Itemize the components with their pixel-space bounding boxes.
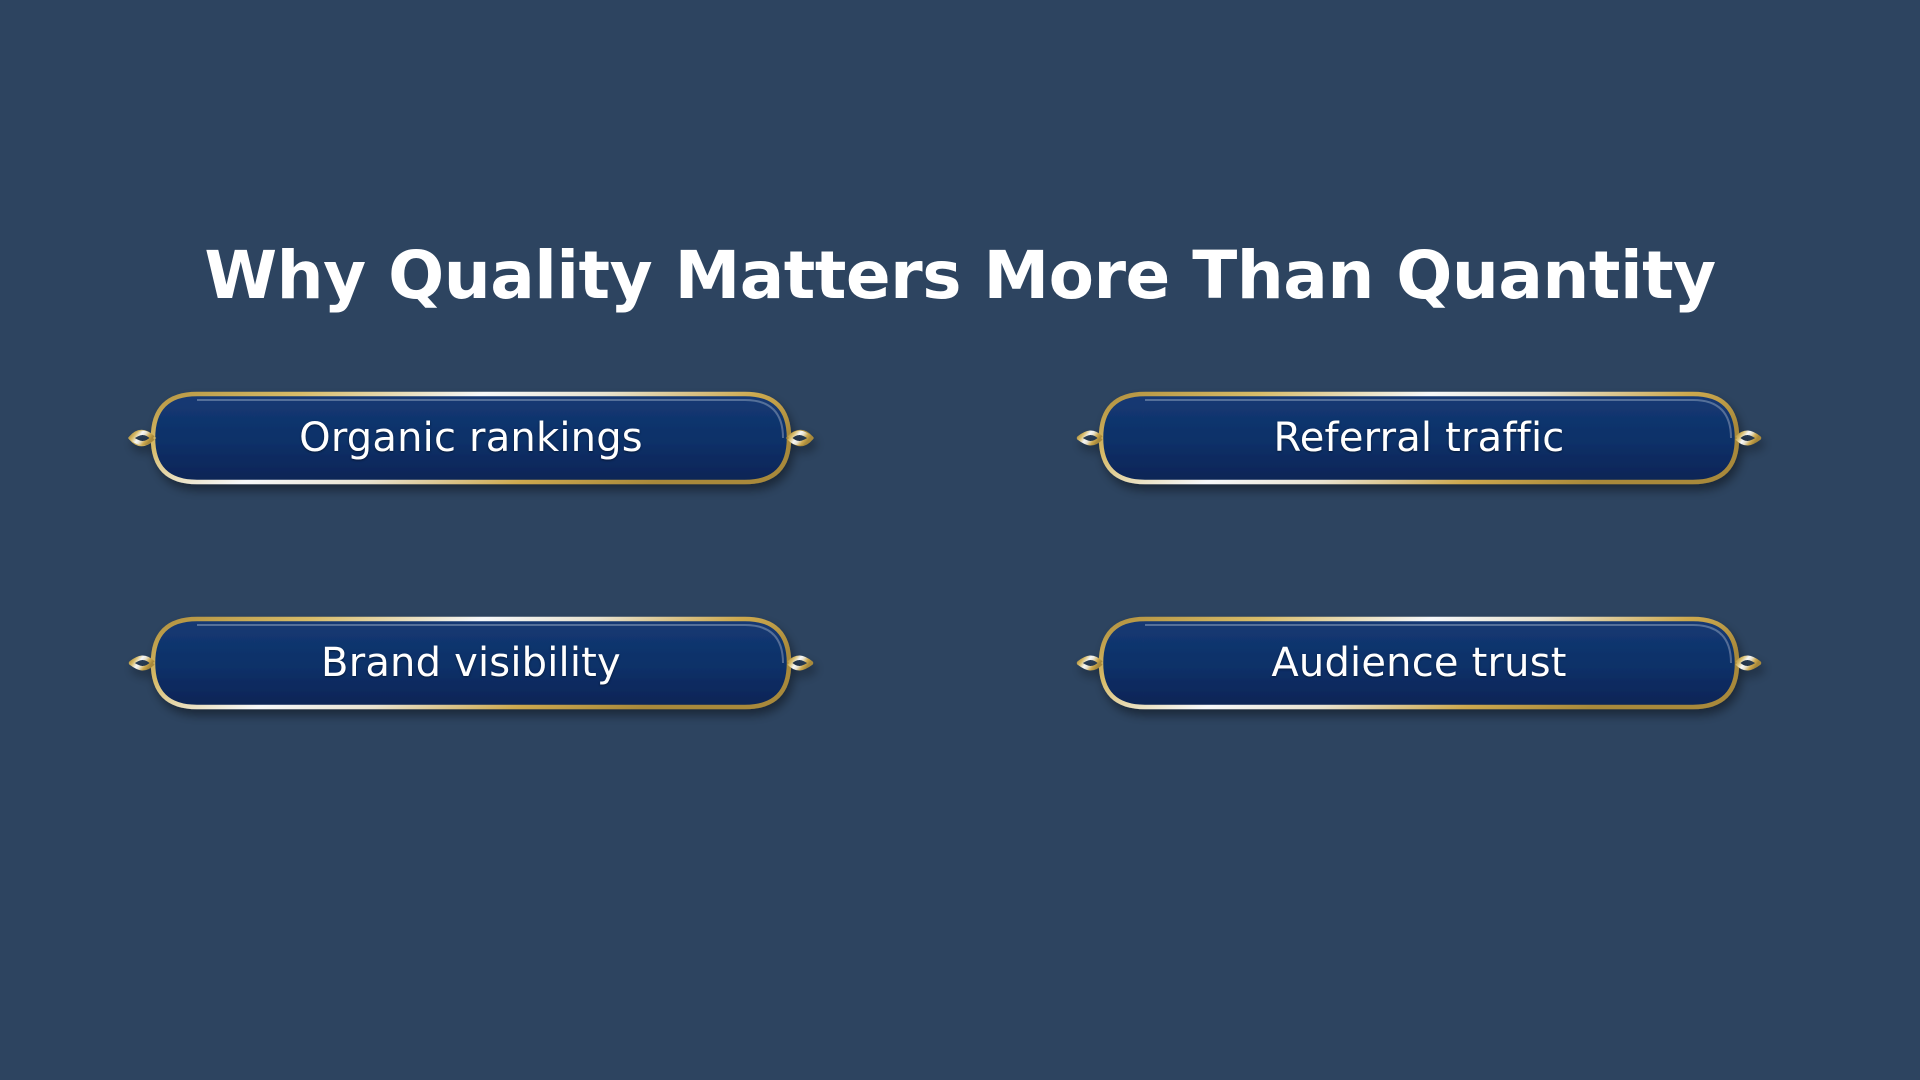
pill-slot: Organic rankings (145, 386, 797, 490)
slide-canvas: Why Quality Matters More Than Quantity (0, 0, 1920, 1080)
pill-shape-icon (1093, 386, 1745, 490)
pill-audience-trust[interactable]: Audience trust (1093, 611, 1745, 715)
pill-slot: Brand visibility (145, 611, 797, 715)
pill-shape-icon (1093, 611, 1745, 715)
pill-shape-icon (145, 386, 797, 490)
pill-slot: Referral traffic (1093, 386, 1745, 490)
pill-shape-icon (145, 611, 797, 715)
pill-slot: Audience trust (1093, 611, 1745, 715)
pill-organic-rankings[interactable]: Organic rankings (145, 386, 797, 490)
pill-referral-traffic[interactable]: Referral traffic (1093, 386, 1745, 490)
pill-brand-visibility[interactable]: Brand visibility (145, 611, 797, 715)
pill-grid: Organic rankings Referral traffic (0, 0, 1920, 1080)
